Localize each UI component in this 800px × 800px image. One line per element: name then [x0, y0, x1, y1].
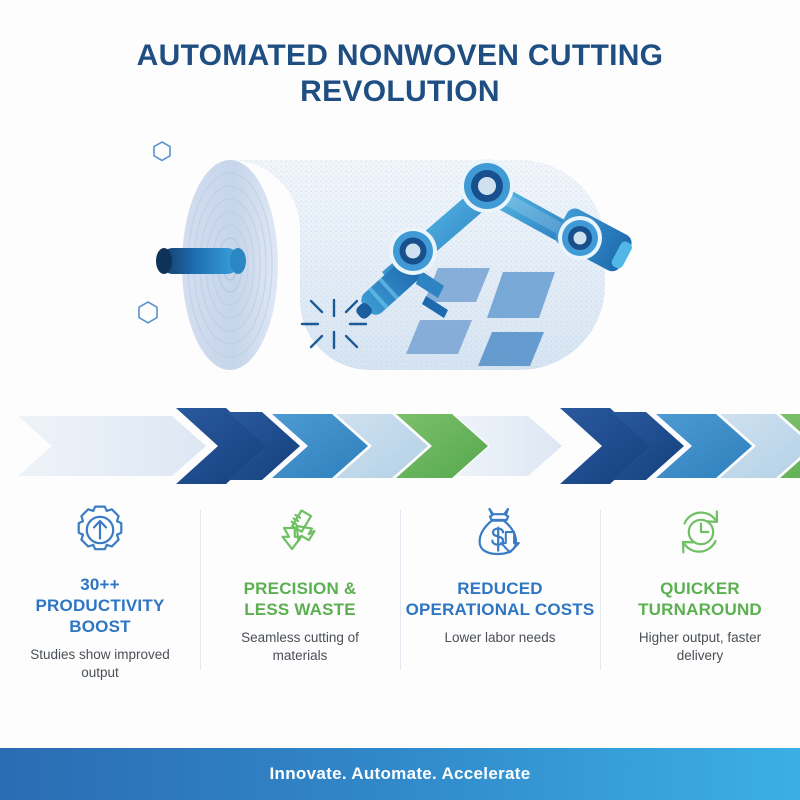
roll-core-axle [156, 248, 246, 274]
money-bag-down-arrow-icon [471, 500, 529, 564]
stat-heading-line: QUICKER [638, 578, 762, 599]
stat-heading-line: PRECISION & [244, 578, 357, 599]
stat-card-turnaround: QUICKER TURNAROUND Higher output, faster… [600, 492, 800, 682]
hexagon-outline-top [154, 142, 170, 160]
stat-subtext: Seamless cutting of materials [225, 629, 375, 665]
stat-card-costs: REDUCED OPERATIONAL COSTS Lower labor ne… [400, 492, 600, 682]
stat-heading-line: PRODUCTIVITY [36, 595, 165, 616]
stat-heading: REDUCED OPERATIONAL COSTS [406, 578, 595, 620]
stats-row: 30++ PRODUCTIVITY BOOST Studies show imp… [0, 492, 800, 682]
gear-arrow-up-icon [71, 500, 129, 560]
clock-refresh-icon [671, 500, 729, 564]
process-arrow-band [0, 398, 800, 494]
stat-heading: 30++ PRODUCTIVITY BOOST [36, 574, 165, 637]
stat-subtext: Studies show improved output [25, 646, 175, 682]
stat-heading-line: OPERATIONAL COSTS [406, 599, 595, 620]
stat-card-productivity: 30++ PRODUCTIVITY BOOST Studies show imp… [0, 492, 200, 682]
robot-joint [558, 216, 602, 260]
stat-heading-line: BOOST [36, 616, 165, 637]
robot-joint [389, 227, 437, 275]
infographic-canvas: AUTOMATED NONWOVEN CUTTING REVOLUTION [0, 0, 800, 800]
stat-card-precision: PRECISION & LESS WASTE Seamless cutting … [200, 492, 400, 682]
stat-heading-line: 30++ [36, 574, 165, 595]
stat-subtext: Lower labor needs [444, 629, 555, 647]
robot-joint [460, 159, 514, 213]
title-line-1: AUTOMATED NONWOVEN CUTTING [0, 38, 800, 74]
chevron-sequence [18, 408, 800, 484]
stat-heading: QUICKER TURNAROUND [638, 578, 762, 620]
stat-heading-line: REDUCED [406, 578, 595, 599]
footer-banner: Innovate. Automate. Accelerate [0, 748, 800, 800]
recycle-icon [271, 500, 329, 564]
stat-heading-line: LESS WASTE [244, 599, 357, 620]
stat-heading: PRECISION & LESS WASTE [244, 578, 357, 620]
hexagon-outline-bottom [139, 302, 157, 323]
page-title: AUTOMATED NONWOVEN CUTTING REVOLUTION [0, 38, 800, 110]
hero-illustration [120, 120, 680, 390]
title-line-2: REVOLUTION [0, 74, 800, 110]
stat-subtext: Higher output, faster delivery [625, 629, 775, 665]
stat-heading-line: TURNAROUND [638, 599, 762, 620]
footer-tagline: Innovate. Automate. Accelerate [270, 764, 531, 784]
